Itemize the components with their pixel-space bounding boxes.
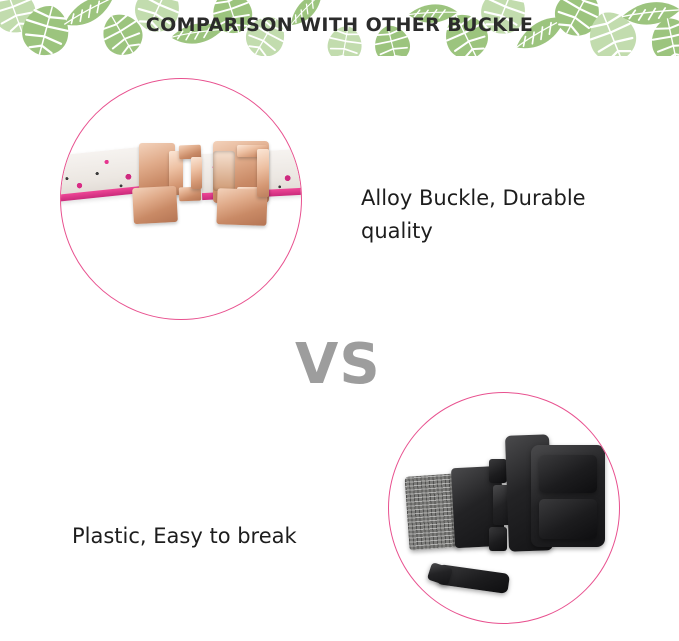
header-banner: COMPARISON WITH OTHER BUCKLE bbox=[0, 0, 679, 56]
alloy-buckle-female-slot bbox=[213, 151, 235, 191]
alloy-buckle-male-tongue bbox=[191, 157, 202, 189]
plastic-buckle-prong-bottom bbox=[489, 527, 507, 551]
vs-label: VS bbox=[295, 332, 381, 397]
alloy-buckle-female-side-bar bbox=[257, 149, 269, 197]
alloy-buckle-photo bbox=[61, 79, 301, 319]
plastic-buckle-photo-circle bbox=[388, 392, 620, 624]
alloy-caption: Alloy Buckle, Durable quality bbox=[361, 182, 661, 248]
plastic-buckle-female-top-face bbox=[539, 455, 597, 493]
plastic-caption: Plastic, Easy to break bbox=[72, 520, 372, 553]
plastic-buckle-female-bottom-face bbox=[539, 499, 597, 539]
banner-title: COMPARISON WITH OTHER BUCKLE bbox=[0, 14, 679, 36]
alloy-buckle-photo-circle bbox=[60, 78, 302, 320]
plastic-buckle-prong-top bbox=[489, 459, 507, 483]
alloy-buckle-male-lower-plate bbox=[132, 186, 178, 224]
product-comparison-image: COMPARISON WITH OTHER BUCKLE bbox=[0, 0, 679, 641]
plastic-buckle-photo bbox=[389, 393, 619, 623]
